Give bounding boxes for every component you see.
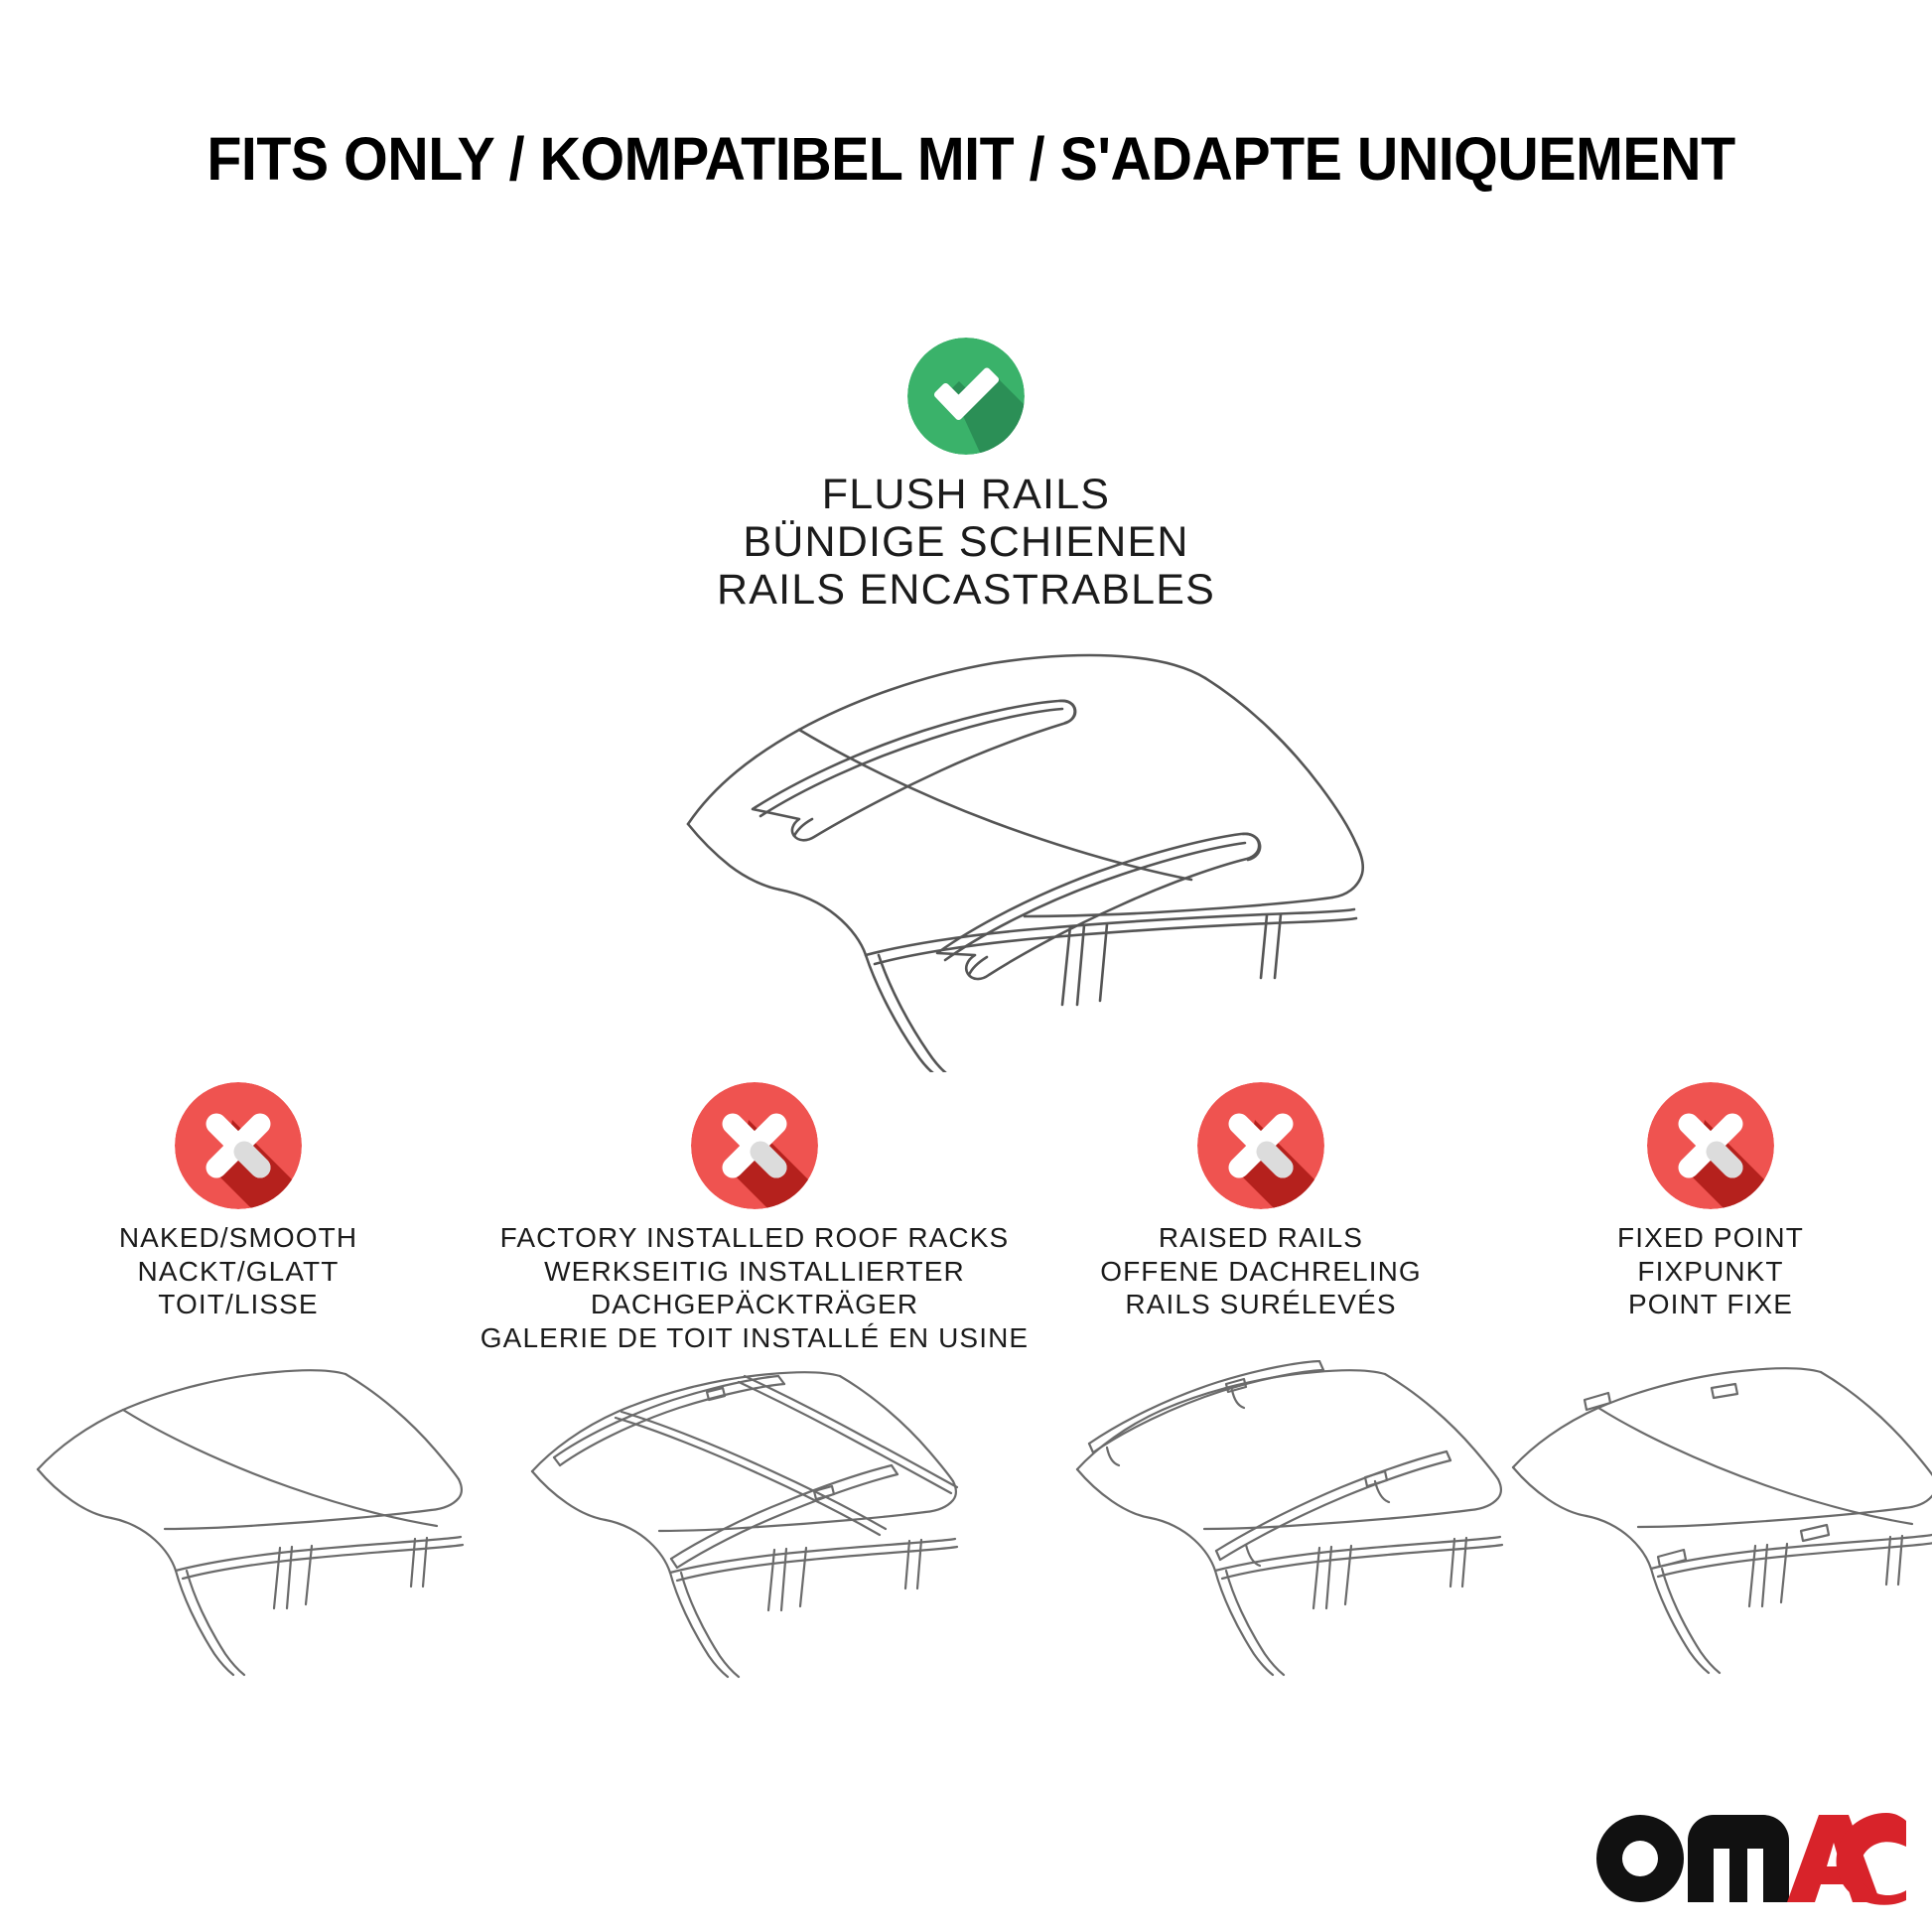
- x-circle-icon: [1647, 1082, 1774, 1209]
- excluded-label: RAISED RAILS OFFENE DACHRELING RAILS SUR…: [1100, 1221, 1422, 1321]
- excluded-group-naked-smooth: NAKED/SMOOTH NACKT/GLATT TOIT/LISSE: [0, 1082, 477, 1321]
- excluded-label-line: DACHGEPÄCKTRÄGER: [481, 1288, 1029, 1321]
- excluded-group-factory-roof-racks: FACTORY INSTALLED ROOF RACKS WERKSEITIG …: [477, 1082, 1033, 1354]
- compatible-label-line: BÜNDIGE SCHIENEN: [717, 518, 1215, 566]
- excluded-label-line: POINT FIXE: [1617, 1288, 1804, 1321]
- x-circle-icon: [1197, 1082, 1324, 1209]
- excluded-label-line: RAISED RAILS: [1100, 1221, 1422, 1255]
- excluded-label: FIXED POINT FIXPUNKT POINT FIXE: [1617, 1221, 1804, 1321]
- compatible-label-line: RAILS ENCASTRABLES: [717, 566, 1215, 614]
- x-circle-icon: [691, 1082, 818, 1209]
- excluded-label-line: NACKT/GLATT: [119, 1255, 357, 1289]
- excluded-label: FACTORY INSTALLED ROOF RACKS WERKSEITIG …: [481, 1221, 1029, 1354]
- car-roof-flush-rails-illustration: [596, 635, 1390, 1072]
- check-circle-icon: [907, 338, 1025, 455]
- page-title: FITS ONLY / KOMPATIBEL MIT / S'ADAPTE UN…: [159, 119, 1783, 199]
- excluded-label-line: OFFENE DACHRELING: [1100, 1255, 1422, 1289]
- car-roof-raised-rails-illustration: [1047, 1360, 1514, 1718]
- excluded-label-line: TOIT/LISSE: [119, 1288, 357, 1321]
- omac-logo: [1588, 1807, 1906, 1906]
- excluded-label-line: GALERIE DE TOIT INSTALLÉ EN USINE: [481, 1321, 1029, 1355]
- car-roof-fixed-point-illustration: [1487, 1360, 1932, 1718]
- logo-letter-o: [1596, 1815, 1684, 1902]
- logo-letter-m: [1688, 1815, 1789, 1902]
- compatible-label: FLUSH RAILS BÜNDIGE SCHIENEN RAILS ENCAS…: [717, 471, 1215, 614]
- x-circle-icon: [175, 1082, 302, 1209]
- excluded-label-line: WERKSEITIG INSTALLIERTER: [481, 1255, 1029, 1289]
- excluded-label-line: NAKED/SMOOTH: [119, 1221, 357, 1255]
- excluded-label-line: RAILS SURÉLEVÉS: [1100, 1288, 1422, 1321]
- excluded-illustrations-row: [0, 1360, 1932, 1718]
- car-roof-naked-illustration: [10, 1360, 477, 1718]
- excluded-group-raised-rails: RAISED RAILS OFFENE DACHRELING RAILS SUR…: [1033, 1082, 1489, 1321]
- compatible-group: FLUSH RAILS BÜNDIGE SCHIENEN RAILS ENCAS…: [470, 338, 1462, 614]
- excluded-label-line: FIXED POINT: [1617, 1221, 1804, 1255]
- excluded-group-fixed-point: FIXED POINT FIXPUNKT POINT FIXE: [1489, 1082, 1932, 1321]
- excluded-label-line: FIXPUNKT: [1617, 1255, 1804, 1289]
- compatible-label-line: FLUSH RAILS: [717, 471, 1215, 518]
- excluded-label: NAKED/SMOOTH NACKT/GLATT TOIT/LISSE: [119, 1221, 357, 1321]
- car-roof-factory-racks-illustration: [496, 1360, 1013, 1718]
- excluded-label-line: FACTORY INSTALLED ROOF RACKS: [481, 1221, 1029, 1255]
